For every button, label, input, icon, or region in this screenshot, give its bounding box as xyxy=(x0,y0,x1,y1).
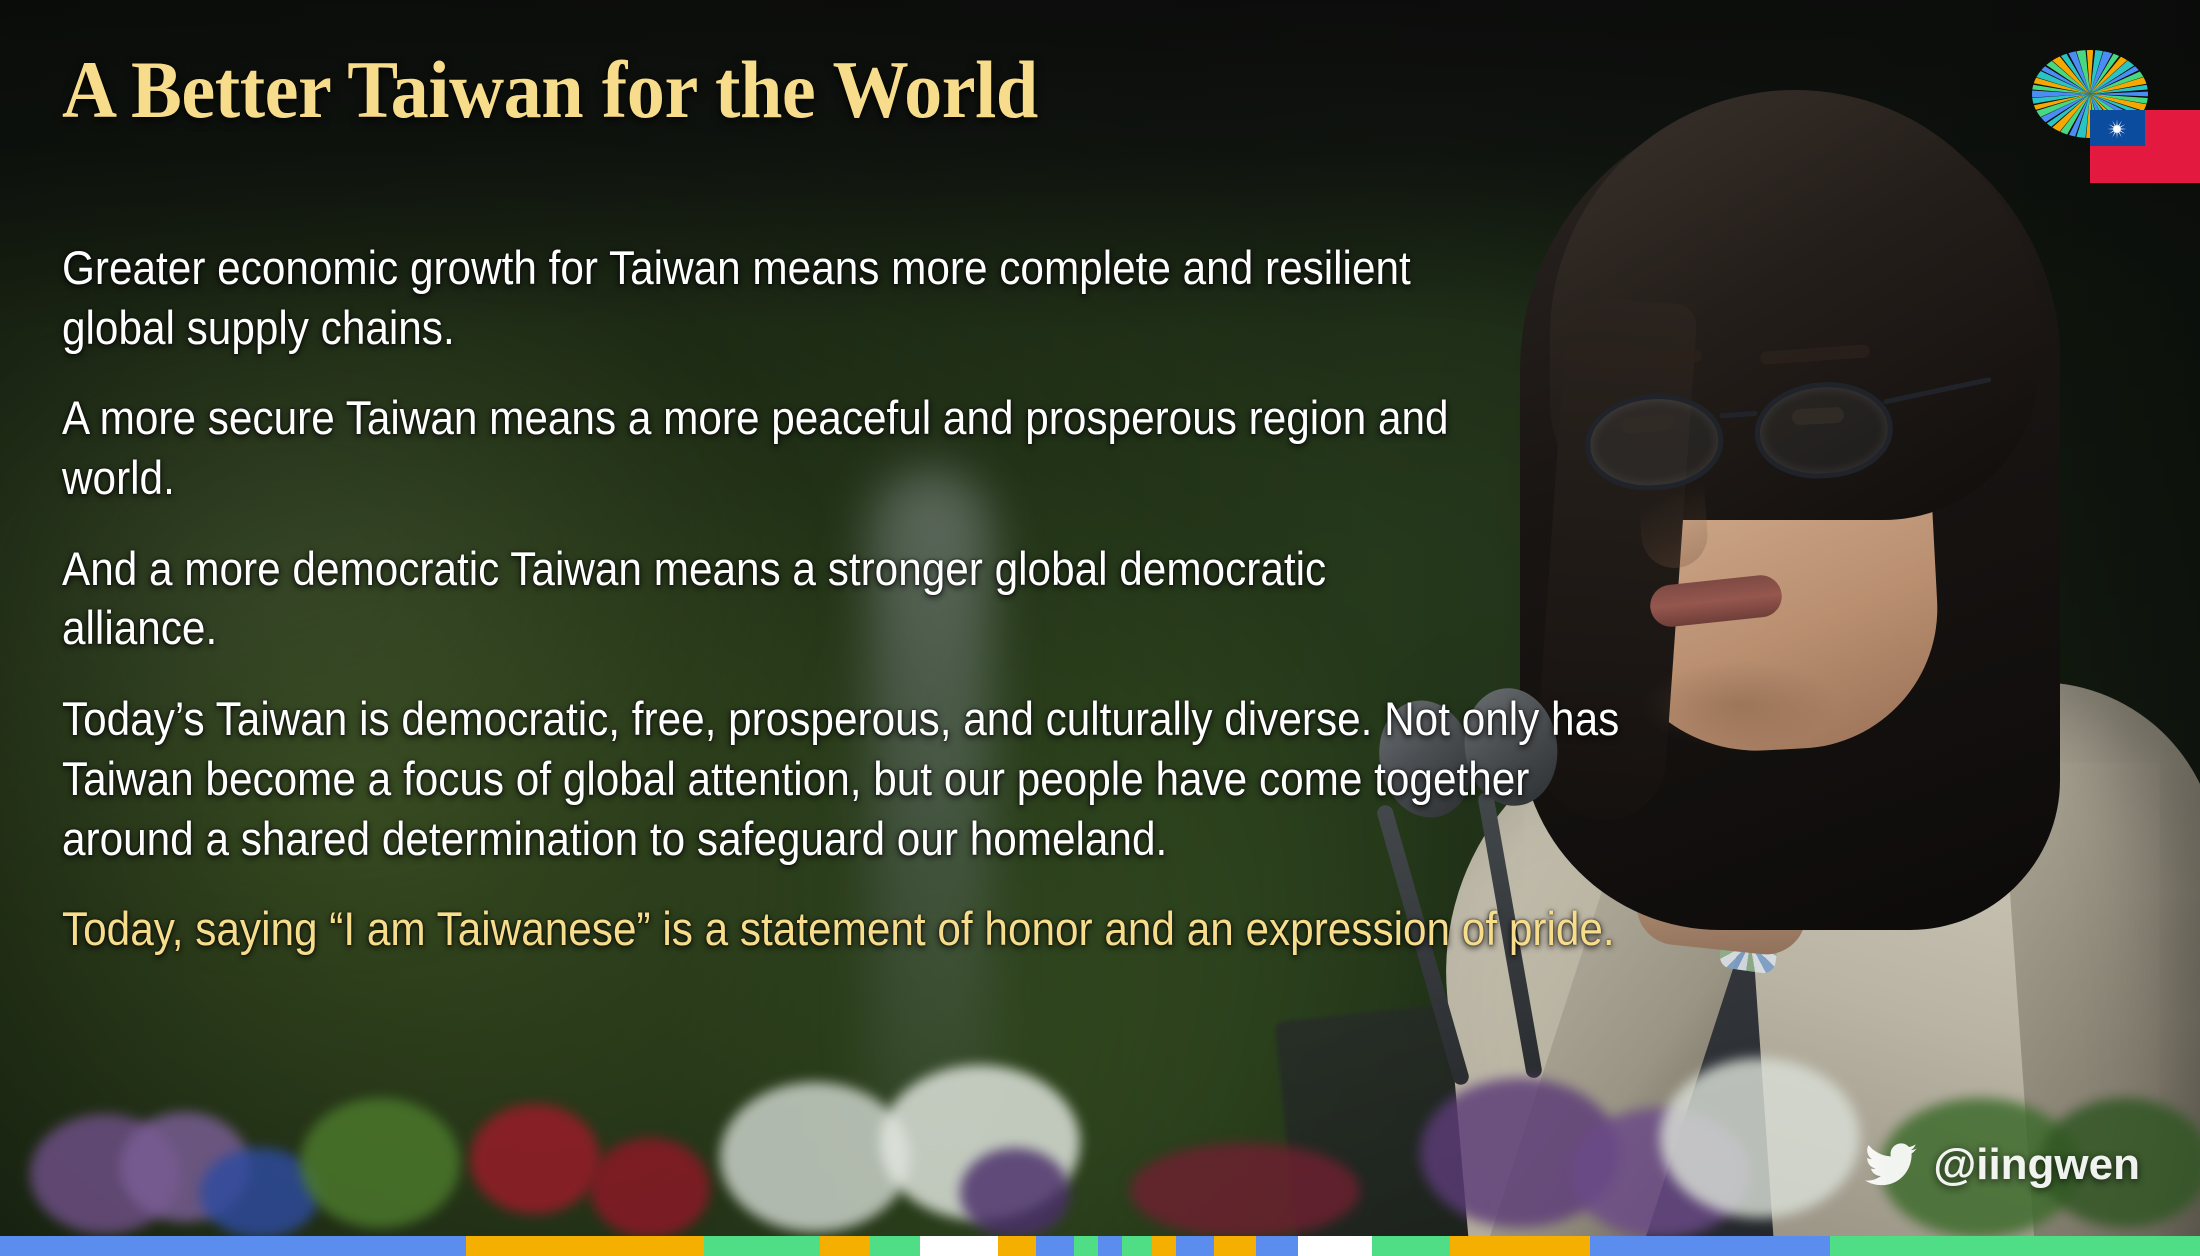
sun-ray xyxy=(2118,121,2121,126)
social-handle-label: @iingwen xyxy=(1933,1140,2140,1190)
taiwan-flag-icon xyxy=(2090,110,2200,183)
sun-ray xyxy=(2109,130,2114,133)
paragraph-security: A more secure Taiwan means a more peacef… xyxy=(62,388,1466,507)
brand-color-bar xyxy=(0,1236,2200,1256)
color-bar-segment xyxy=(1450,1236,1590,1256)
color-bar-segment xyxy=(870,1236,920,1256)
color-bar-segment xyxy=(1036,1236,1074,1256)
sun-ray xyxy=(2112,121,2115,126)
sun-ray xyxy=(2118,132,2121,137)
color-bar-segment xyxy=(1372,1236,1450,1256)
sun-ray xyxy=(2112,132,2115,137)
paragraph-democracy: And a more democratic Taiwan means a str… xyxy=(62,539,1466,658)
color-bar-segment xyxy=(998,1236,1036,1256)
page-title: A Better Taiwan for the World xyxy=(62,48,1038,132)
paragraph-economy: Greater economic growth for Taiwan means… xyxy=(62,238,1466,357)
social-graphic-card: A Better Taiwan for the World Greater ec… xyxy=(0,0,2200,1256)
color-bar-segment xyxy=(1590,1236,1830,1256)
color-bar-segment xyxy=(1122,1236,1152,1256)
color-bar-segment xyxy=(1256,1236,1298,1256)
color-bar-segment xyxy=(466,1236,704,1256)
color-bar-segment xyxy=(1074,1236,1098,1256)
sun-ray xyxy=(2107,129,2113,130)
color-bar-segment xyxy=(1098,1236,1122,1256)
color-bar-segment xyxy=(1176,1236,1214,1256)
sun-ray xyxy=(2117,119,2118,125)
color-bar-segment xyxy=(1214,1236,1256,1256)
sun-ray xyxy=(2121,129,2127,130)
body-copy: Greater economic growth for Taiwan means… xyxy=(62,238,1822,959)
color-bar-segment xyxy=(1152,1236,1176,1256)
color-bar-segment xyxy=(704,1236,820,1256)
color-bar-segment xyxy=(0,1236,466,1256)
sun-ray xyxy=(2120,130,2125,133)
twitter-bird-icon xyxy=(1865,1143,1917,1187)
sun-ray xyxy=(2120,124,2125,127)
color-bar-segment xyxy=(1298,1236,1372,1256)
paragraph-today-gold: Today, saying “I am Taiwanese” is a stat… xyxy=(62,899,1646,959)
paragraph-today-white: Today’s Taiwan is democratic, free, pros… xyxy=(62,689,1646,868)
sun-ray xyxy=(2117,133,2118,139)
flag-sun-icon xyxy=(2106,118,2128,140)
sun-ray xyxy=(2109,124,2114,127)
social-handle[interactable]: @iingwen xyxy=(1865,1140,2140,1190)
color-bar-segment xyxy=(820,1236,870,1256)
color-bar-segment xyxy=(1830,1236,2200,1256)
color-bar-segment xyxy=(920,1236,998,1256)
